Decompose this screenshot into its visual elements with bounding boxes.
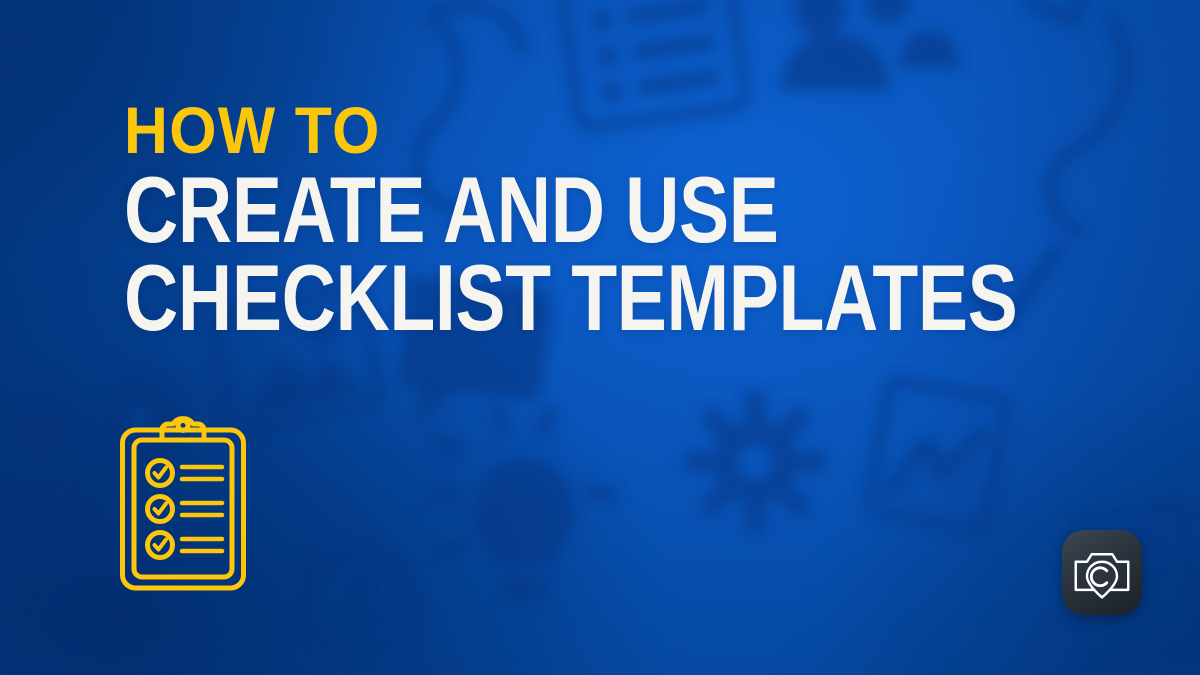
camera-location-pin-logo	[1072, 543, 1132, 603]
clipboard-outer-frame	[123, 430, 244, 588]
headline-block: HOW TO CREATE AND USE CHECKLIST TEMPLATE…	[124, 98, 1124, 342]
how-to-banner: HOW TO CREATE AND USE CHECKLIST TEMPLATE…	[0, 0, 1200, 675]
page-title-line-2: CHECKLIST TEMPLATES	[124, 255, 924, 341]
kicker-text: HOW TO	[124, 98, 1044, 163]
clipboard-clip-ring	[178, 421, 188, 431]
clipboard-checklist-icon	[118, 414, 248, 594]
check-mark-2	[155, 504, 167, 514]
check-mark-1	[155, 468, 167, 478]
brand-logo-badge[interactable]	[1062, 530, 1142, 615]
page-title-line-1: CREATE AND USE	[124, 167, 924, 253]
check-mark-3	[155, 540, 167, 550]
